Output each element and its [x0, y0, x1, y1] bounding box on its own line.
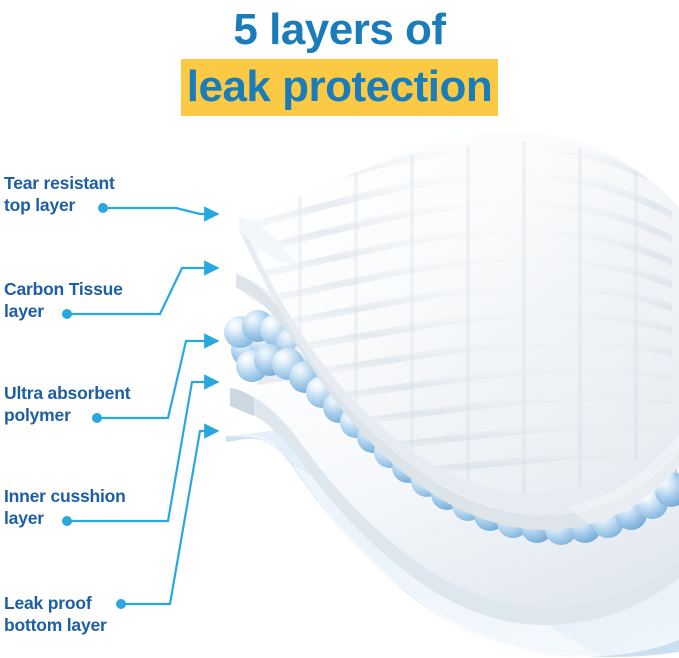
infographic-canvas: 5 layers of leak protection [0, 0, 679, 658]
label-inner-cusshion-layer: Inner cusshion layer [4, 486, 126, 530]
leader-line-tear-resistant-top-layer [104, 208, 218, 214]
label-leak-proof-bottom-layer: Leak proof bottom layer [4, 593, 107, 637]
leader-lines [0, 0, 679, 658]
label-ultra-absorbent-polymer: Ultra absorbent polymer [4, 383, 130, 427]
leader-line-leak-proof-bottom-layer [122, 431, 218, 604]
anchor-dot-leak-proof-bottom-layer [116, 599, 126, 609]
label-tear-resistant-top-layer: Tear resistant top layer [4, 173, 115, 217]
label-carbon-tissue-layer: Carbon Tissue layer [4, 279, 123, 323]
